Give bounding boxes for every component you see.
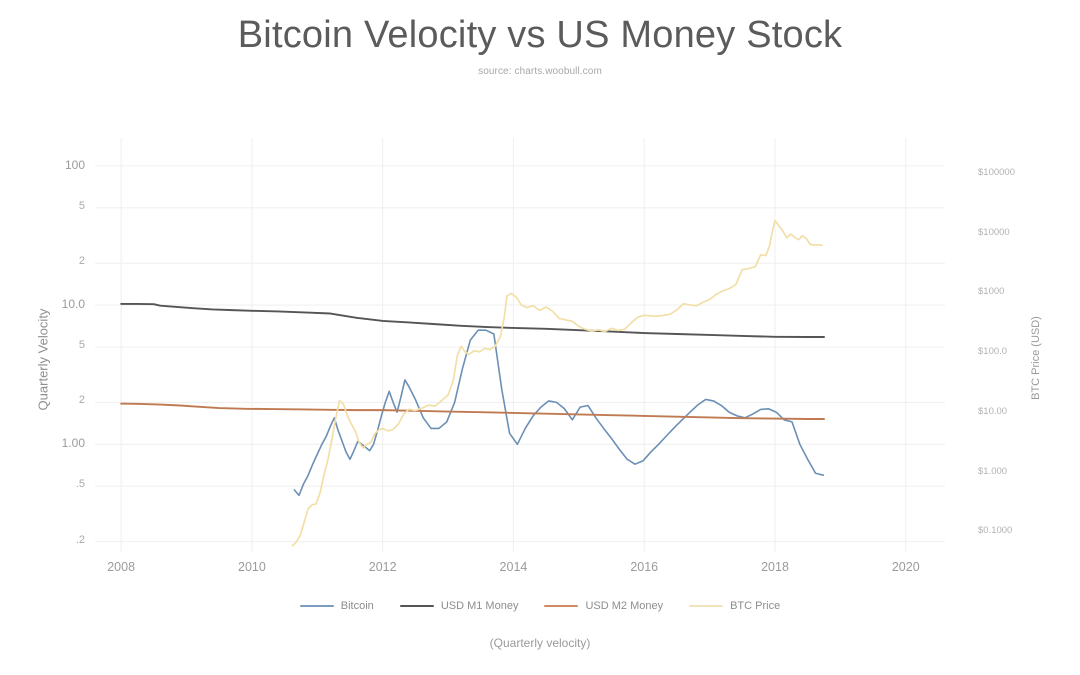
legend-label: BTC Price [730, 600, 780, 612]
y2-tick-label: $1.000 [978, 466, 1007, 477]
x-tick-label: 2008 [86, 560, 156, 574]
legend-swatch-icon [300, 605, 334, 607]
legend-label: USD M2 Money [585, 600, 663, 612]
chart-container: Bitcoin Velocity vs US Money Stock sourc… [0, 0, 1080, 675]
legend-swatch-icon [400, 605, 434, 607]
y-tick-label: 2 [39, 394, 85, 406]
x-tick-label: 2010 [217, 560, 287, 574]
y2-tick-label: $0.1000 [978, 525, 1012, 536]
chart-legend: BitcoinUSD M1 MoneyUSD M2 MoneyBTC Price [0, 600, 1080, 612]
y-tick-label: 10.0 [39, 297, 85, 311]
x-tick-label: 2018 [740, 560, 810, 574]
y-tick-label: 2 [39, 255, 85, 267]
y-tick-label: 5 [39, 200, 85, 212]
x-tick-label: 2016 [609, 560, 679, 574]
legend-swatch-icon [544, 605, 578, 607]
legend-item[interactable]: USD M1 Money [400, 600, 519, 612]
y2-tick-label: $100.0 [978, 346, 1007, 357]
y2-tick-label: $100000 [978, 167, 1015, 178]
x-tick-label: 2020 [871, 560, 941, 574]
y2-tick-label: $10.00 [978, 406, 1007, 417]
y-tick-label: .2 [39, 534, 85, 546]
legend-item[interactable]: USD M2 Money [544, 600, 663, 612]
legend-item[interactable]: Bitcoin [300, 600, 374, 612]
y-tick-label: .5 [39, 478, 85, 490]
legend-label: USD M1 Money [441, 600, 519, 612]
series-line-btc-price [292, 221, 822, 546]
series-line-bitcoin [294, 330, 823, 495]
y-tick-label: 100 [39, 158, 85, 172]
legend-label: Bitcoin [341, 600, 374, 612]
y2-tick-label: $1000 [978, 286, 1004, 297]
legend-swatch-icon [689, 605, 723, 607]
series-line-usd-m2-money [121, 404, 824, 419]
legend-item[interactable]: BTC Price [689, 600, 780, 612]
y-tick-label: 1.00 [39, 436, 85, 450]
y2-tick-label: $10000 [978, 227, 1010, 238]
y2-axis-title: BTC Price (USD) [1030, 278, 1042, 438]
series-line-usd-m1-money [121, 304, 824, 337]
x-tick-label: 2012 [348, 560, 418, 574]
footer-caption: (Quarterly velocity) [0, 636, 1080, 650]
x-tick-label: 2014 [478, 560, 548, 574]
y-tick-label: 5 [39, 339, 85, 351]
